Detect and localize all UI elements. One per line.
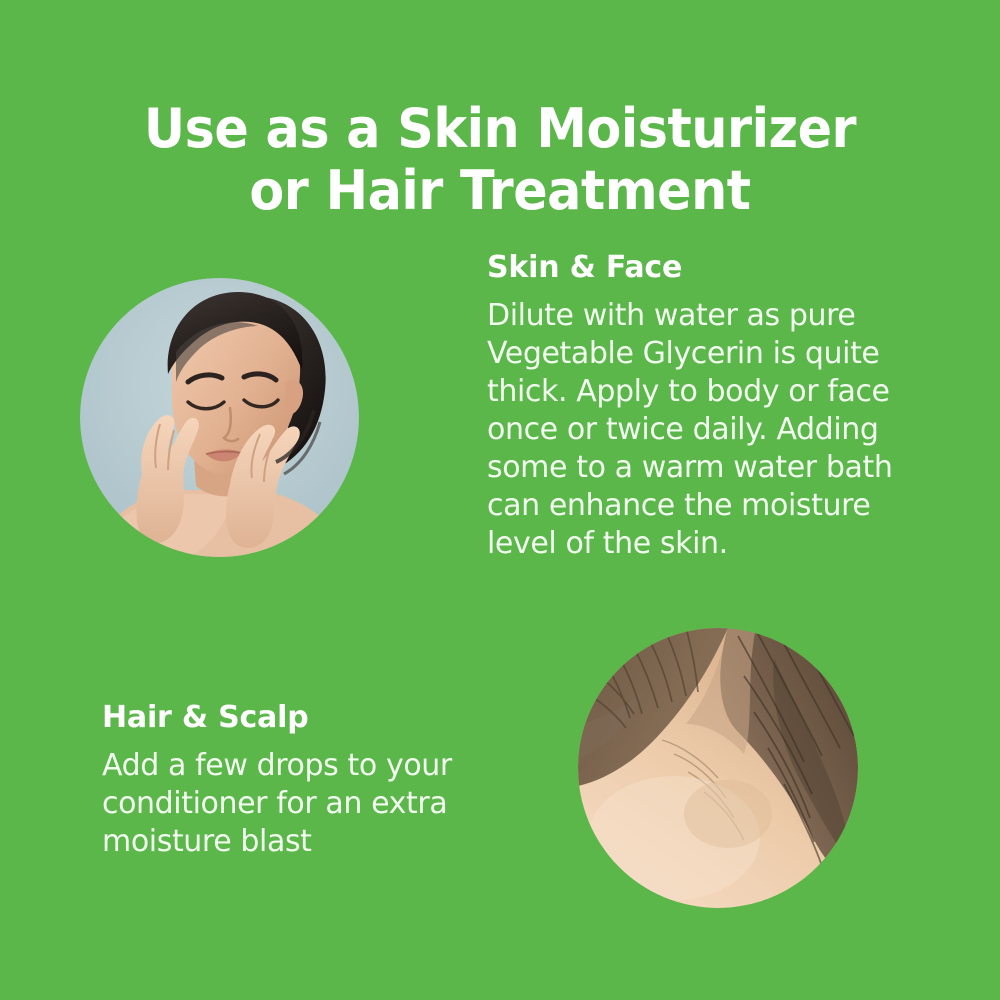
hair-scalp-photo <box>578 628 858 908</box>
skin-face-photo <box>80 278 359 557</box>
poster-canvas: Use as a Skin Moisturizer or Hair Treatm… <box>0 0 1000 1000</box>
hair-scalp-section: Hair & Scalp Add a few drops to your con… <box>102 701 522 861</box>
skin-face-heading: Skin & Face <box>487 251 957 285</box>
skin-face-body: Dilute with water as pure Vegetable Glyc… <box>487 297 957 563</box>
hair-scalp-heading: Hair & Scalp <box>102 701 522 735</box>
page-title: Use as a Skin Moisturizer or Hair Treatm… <box>30 98 970 222</box>
skin-face-section: Skin & Face Dilute with water as pure Ve… <box>487 251 957 563</box>
hair-scalp-body: Add a few drops to your conditioner for … <box>102 747 522 861</box>
